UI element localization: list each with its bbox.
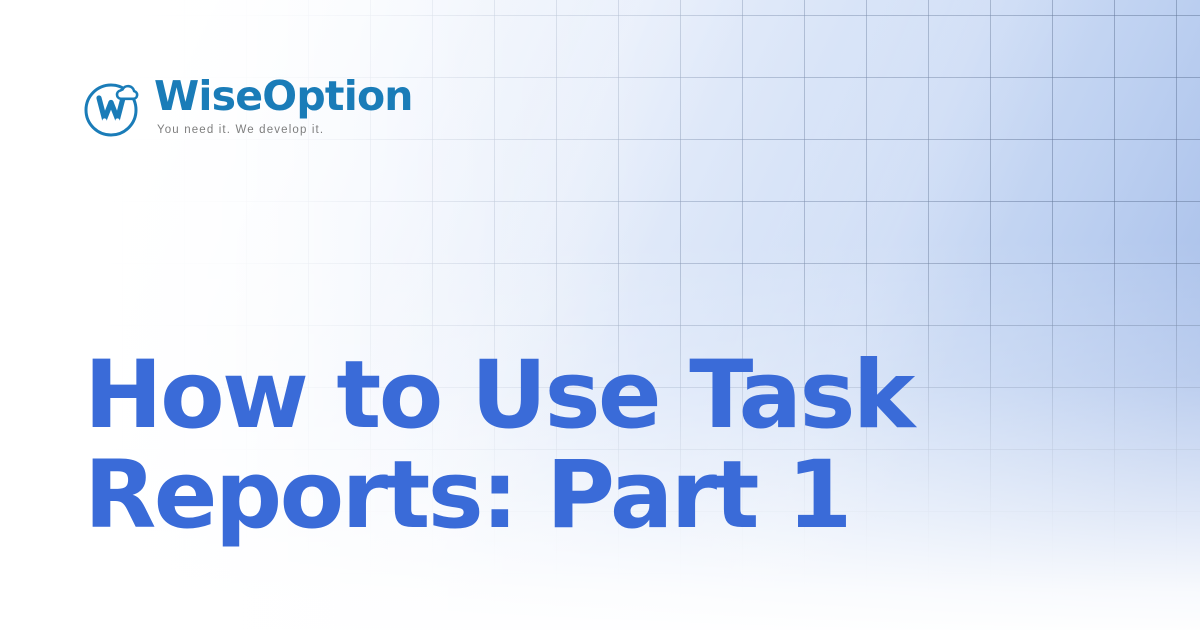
- brand-logo[interactable]: WiseOption You need it. We develop it.: [82, 72, 413, 138]
- banner-canvas: WiseOption You need it. We develop it. H…: [0, 0, 1200, 630]
- wiseoption-logomark-icon: [82, 76, 144, 138]
- brand-logo-text: WiseOption You need it. We develop it.: [154, 72, 413, 136]
- brand-tagline: You need it. We develop it.: [157, 124, 324, 136]
- page-title: How to Use Task Reports: Part 1: [84, 346, 984, 545]
- brand-wordmark: WiseOption: [154, 76, 413, 117]
- page-title-line-1: How to Use Task: [84, 346, 984, 446]
- page-title-line-2: Reports: Part 1: [84, 446, 984, 546]
